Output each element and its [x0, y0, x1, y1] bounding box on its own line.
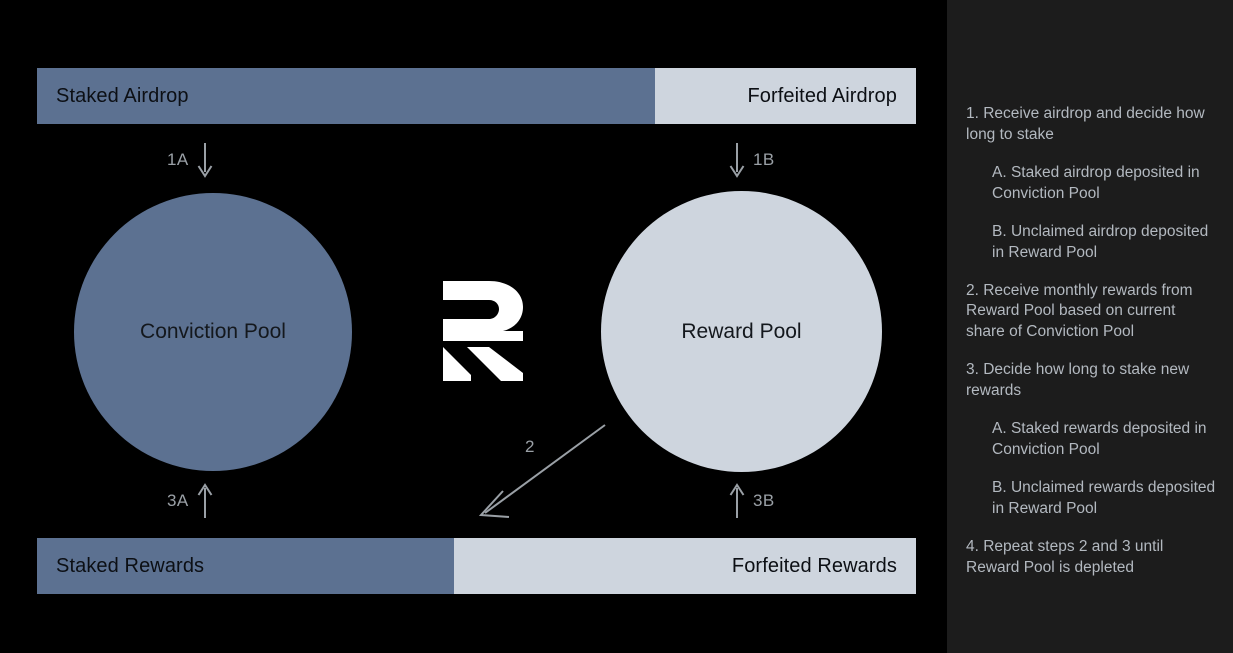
step-item: B. Unclaimed airdrop deposited in Reward… — [966, 222, 1219, 264]
step-3a-arrow-group: 3A — [167, 482, 215, 520]
step-1a-label: 1A — [167, 150, 189, 170]
arrow-down-icon — [727, 141, 747, 179]
step-item: 3. Decide how long to stake new rewards — [966, 360, 1218, 402]
step-item: A. Staked airdrop deposited in Convictio… — [966, 163, 1219, 205]
staked-airdrop-segment: Staked Airdrop — [37, 68, 655, 124]
forfeited-airdrop-segment: Forfeited Airdrop — [655, 68, 916, 124]
airdrop-split-bar: Staked Airdrop Forfeited Airdrop — [37, 68, 916, 124]
arrow-up-icon — [727, 482, 747, 520]
staked-rewards-segment: Staked Rewards — [37, 538, 454, 594]
step-item: A. Staked rewards deposited in Convictio… — [966, 419, 1219, 461]
step-1a-arrow-group: 1A — [167, 141, 215, 179]
step-3a-label: 3A — [167, 491, 189, 511]
step-1b-label: 1B — [753, 150, 775, 170]
reward-pool-circle: Reward Pool — [601, 191, 882, 472]
step-item: B. Unclaimed rewards deposited in Reward… — [966, 478, 1219, 520]
reward-pool-label: Reward Pool — [681, 320, 801, 344]
diagram-screen: Staked Airdrop Forfeited Airdrop 1A 1B — [0, 0, 1233, 653]
arrow-down-icon — [195, 141, 215, 179]
step-3b-arrow-group: 3B — [727, 482, 775, 520]
forfeited-rewards-segment: Forfeited Rewards — [454, 538, 916, 594]
diagram-panel: Staked Airdrop Forfeited Airdrop 1A 1B — [0, 0, 947, 653]
step-2-label: 2 — [525, 437, 534, 457]
brand-logo-icon — [437, 281, 523, 381]
step-item: 4. Repeat steps 2 and 3 until Reward Poo… — [966, 537, 1218, 579]
arrow-up-icon — [195, 482, 215, 520]
conviction-pool-label: Conviction Pool — [140, 320, 286, 344]
step-1b-arrow-group: 1B — [727, 141, 775, 179]
conviction-pool-circle: Conviction Pool — [74, 193, 352, 471]
step-item: 2. Receive monthly rewards from Reward P… — [966, 281, 1218, 344]
step-3b-label: 3B — [753, 491, 775, 511]
step-2-arrow-icon — [465, 413, 617, 525]
rewards-split-bar: Staked Rewards Forfeited Rewards — [37, 538, 916, 594]
steps-sidebar: 1. Receive airdrop and decide how long t… — [947, 0, 1233, 653]
step-item: 1. Receive airdrop and decide how long t… — [966, 104, 1218, 146]
